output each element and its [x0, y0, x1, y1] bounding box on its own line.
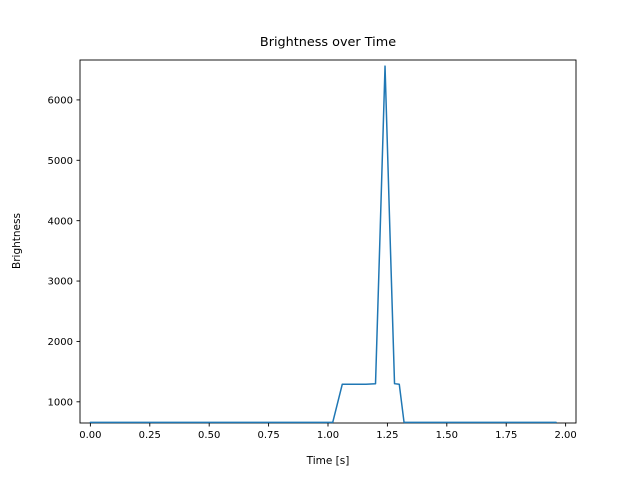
chart-title: Brightness over Time [260, 35, 396, 50]
x-tick-label: 0.00 [79, 430, 101, 441]
x-tick-label: 1.50 [436, 430, 458, 441]
y-tick-label: 5000 [48, 156, 73, 167]
figure-canvas: Brightness over Time 0.000.250.500.751.0… [0, 0, 640, 480]
x-tick-label: 0.25 [139, 430, 161, 441]
y-tick-label: 2000 [48, 337, 73, 348]
figure-background [0, 0, 640, 480]
x-tick-label: 0.50 [198, 430, 220, 441]
x-tick-label: 2.00 [554, 430, 576, 441]
x-tick-label: 1.00 [317, 430, 339, 441]
x-tick-label: 0.75 [257, 430, 279, 441]
y-axis-label: Brightness [11, 213, 23, 269]
x-tick-label: 1.75 [495, 430, 517, 441]
x-axis-label: Time [s] [306, 455, 350, 467]
y-tick-label: 1000 [48, 397, 73, 408]
x-tick-label: 1.25 [376, 430, 398, 441]
brightness-line-chart: Brightness over Time 0.000.250.500.751.0… [0, 0, 640, 480]
y-tick-label: 6000 [48, 96, 73, 107]
y-tick-label: 4000 [48, 216, 73, 227]
y-tick-label: 3000 [48, 277, 73, 288]
